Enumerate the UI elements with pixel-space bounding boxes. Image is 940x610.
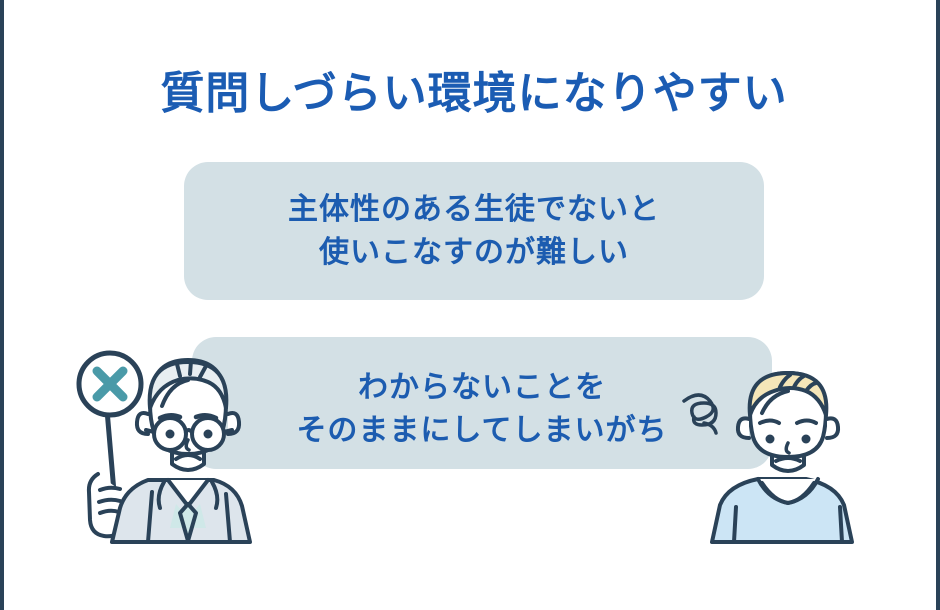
teacher-body: [112, 480, 250, 542]
info-card-unresolved-line2: そのままにしてしまいがち: [296, 409, 667, 453]
info-card-difficulty-text: 主体性のある生徒でないと 使いこなすのが難しい: [272, 188, 676, 275]
teacher-head: [137, 360, 239, 459]
student-body: [712, 479, 852, 542]
info-card-difficulty-line2: 使いこなすのが難しい: [288, 231, 660, 275]
confusion-spiral-icon: [684, 395, 716, 433]
x-sign: [79, 353, 141, 415]
x-sign-handle: [107, 410, 114, 492]
info-card-unresolved-text: わからないことを そのままにしてしまいがち: [280, 366, 683, 453]
info-card-unresolved-line1: わからないことを: [296, 366, 667, 410]
student-head: [738, 373, 838, 461]
teacher-illustration: [60, 352, 290, 542]
info-card-difficulty: 主体性のある生徒でないと 使いこなすのが難しい: [184, 162, 764, 300]
page-title: 質問しづらい環境になりやすい: [4, 70, 940, 118]
slide-root: 質問しづらい環境になりやすい 主体性のある生徒でないと 使いこなすのが難しい わ…: [0, 0, 940, 610]
student-illustration: [676, 367, 876, 542]
info-card-difficulty-line1: 主体性のある生徒でないと: [288, 188, 660, 232]
